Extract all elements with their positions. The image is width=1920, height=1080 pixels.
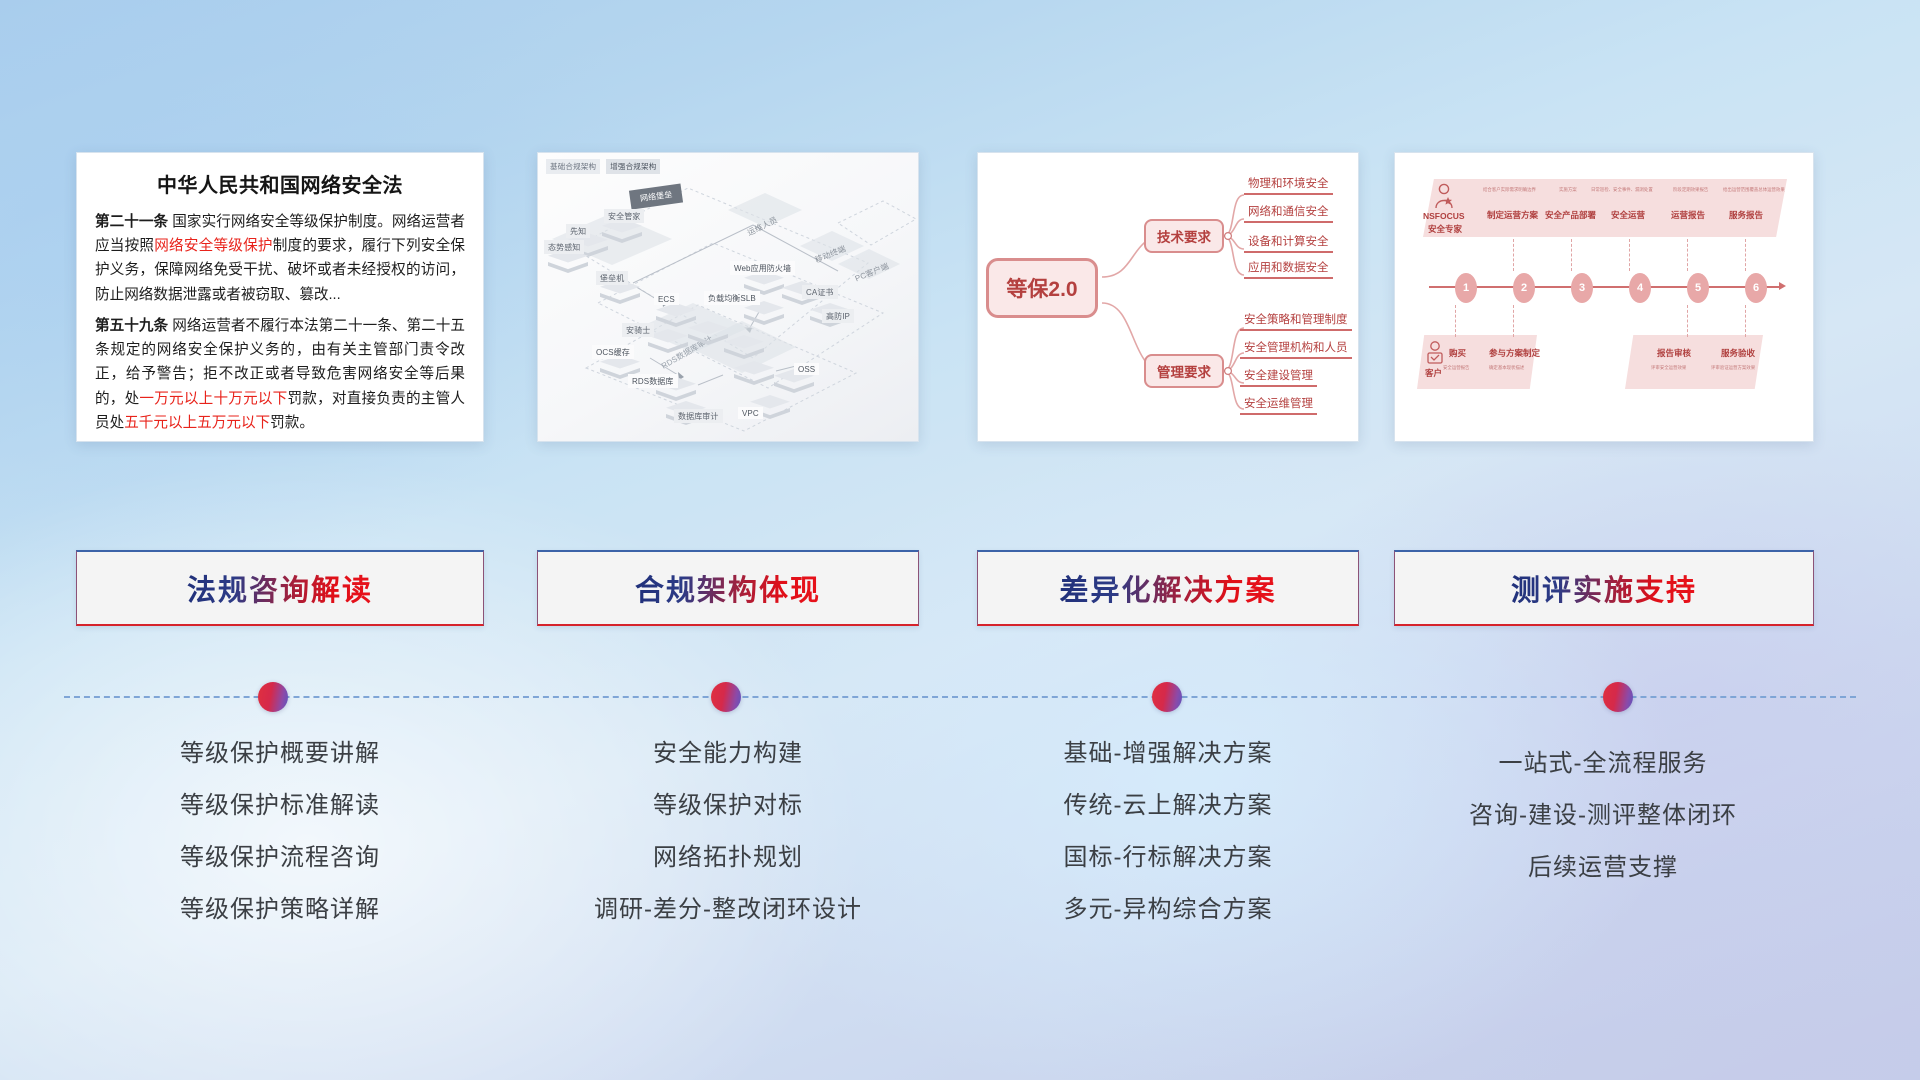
list-item: 基础-增强解决方案 (945, 742, 1391, 766)
list-item: 咨询-建设-测评整体闭环 (1380, 804, 1826, 828)
headline-label-4: 测评实施支持 (1511, 567, 1697, 609)
timeline-dashed-line (64, 696, 1856, 698)
list-item: 等级保护概要讲解 (76, 742, 484, 766)
headline-box-3[interactable]: 差异化解决方案 (977, 550, 1359, 626)
list-item: 一站式-全流程服务 (1380, 752, 1826, 776)
feature-column-4: 一站式-全流程服务 咨询-建设-测评整体闭环 后续运营支撑 (1380, 752, 1826, 908)
headline-box-4[interactable]: 测评实施支持 (1394, 550, 1814, 626)
list-item: 多元-异构综合方案 (945, 898, 1391, 922)
headline-box-2[interactable]: 合规架构体现 (537, 550, 919, 626)
list-item: 调研-差分-整改闭环设计 (505, 898, 951, 922)
feature-column-2: 安全能力构建 等级保护对标 网络拓扑规划 调研-差分-整改闭环设计 (505, 742, 951, 950)
list-item: 后续运营支撑 (1380, 856, 1826, 880)
headline-label-2: 合规架构体现 (635, 567, 821, 609)
list-item: 传统-云上解决方案 (945, 794, 1391, 818)
headline-label-3: 差异化解决方案 (1059, 567, 1276, 609)
list-item: 安全能力构建 (505, 742, 951, 766)
headline-row: 法规咨询解读 合规架构体现 差异化解决方案 测评实施支持 等级保护概要讲解 等级… (0, 0, 1920, 1080)
timeline-dot-3[interactable] (1152, 682, 1182, 712)
feature-column-1: 等级保护概要讲解 等级保护标准解读 等级保护流程咨询 等级保护策略详解 (76, 742, 484, 950)
timeline-dot-1[interactable] (258, 682, 288, 712)
timeline-dot-2[interactable] (711, 682, 741, 712)
list-item: 等级保护对标 (505, 794, 951, 818)
list-item: 等级保护策略详解 (76, 898, 484, 922)
feature-column-3: 基础-增强解决方案 传统-云上解决方案 国标-行标解决方案 多元-异构综合方案 (945, 742, 1391, 950)
list-item: 等级保护流程咨询 (76, 846, 484, 870)
headline-label-1: 法规咨询解读 (187, 567, 373, 609)
list-item: 国标-行标解决方案 (945, 846, 1391, 870)
headline-box-1[interactable]: 法规咨询解读 (76, 550, 484, 626)
list-item: 等级保护标准解读 (76, 794, 484, 818)
timeline-dot-4[interactable] (1603, 682, 1633, 712)
list-item: 网络拓扑规划 (505, 846, 951, 870)
